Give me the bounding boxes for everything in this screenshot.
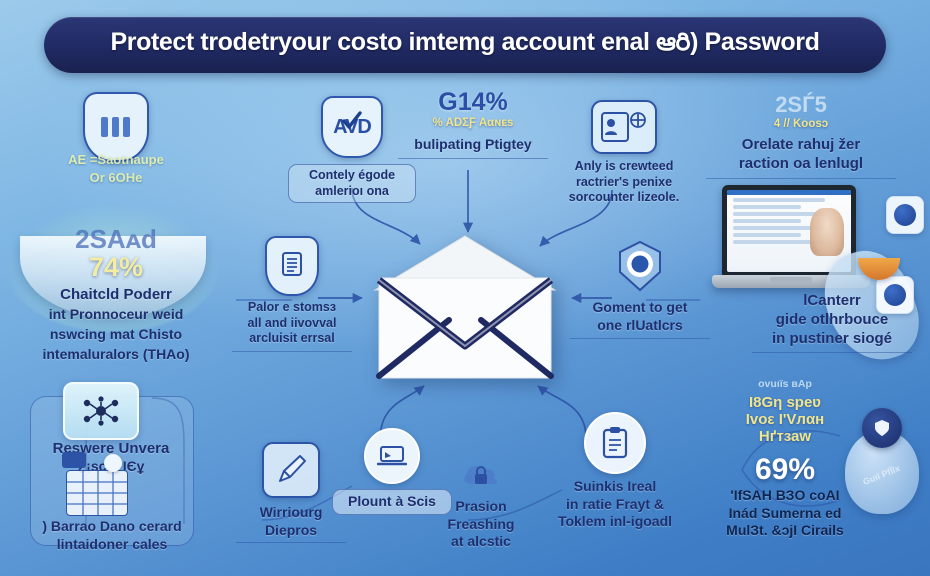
laptop-glyph bbox=[377, 444, 407, 468]
envelope-glyph bbox=[371, 234, 559, 382]
clipboard-glyph bbox=[601, 426, 629, 460]
node-clipboard[interactable]: Suinkis Ireal in ratie Frayt & Toklem in… bbox=[540, 412, 690, 531]
left-top-caption-2: int Pronnoceur weid bbox=[0, 306, 232, 324]
left-top-stat: 74% bbox=[0, 252, 232, 283]
pencil-glyph bbox=[274, 453, 308, 487]
calendar-grid-icon bbox=[66, 470, 128, 516]
right-bottom-sub-3: Hґтзаw bbox=[690, 428, 880, 445]
left-top-caption-1: Chaitcld Poderr bbox=[0, 286, 232, 305]
node-password[interactable]: Prasion Freashing at alcstic bbox=[426, 458, 536, 551]
shield-document-lock-icon bbox=[265, 236, 319, 296]
left-top-caption-4: intemaluralors (THAo) bbox=[0, 346, 232, 364]
node-identity-caption-3: sorcounter lizeole. bbox=[544, 190, 704, 206]
document-glyph bbox=[280, 251, 304, 281]
cloud-network-icon bbox=[63, 382, 139, 440]
calendar-tag-icon bbox=[62, 452, 86, 468]
node-phishing-caption-1: bulipating Ptigtey bbox=[398, 136, 548, 159]
shield-glyph bbox=[873, 419, 891, 437]
award-shield-icon bbox=[886, 196, 924, 234]
node-identity[interactable]: Anly is crewteed ractrier's penixe sorco… bbox=[544, 100, 704, 206]
node-phishing-stat-sub: % ADΣƑ Aαɴᴇѕ bbox=[398, 117, 548, 129]
node-warning-caption-1: Wirriourg bbox=[236, 504, 346, 522]
shield-badge-icon bbox=[862, 408, 902, 448]
laptop-circle-icon bbox=[364, 428, 420, 484]
clipboard-icon bbox=[584, 412, 646, 474]
screen-line bbox=[733, 212, 825, 216]
left-top-ghost-line-1: AE =Saotnaupe bbox=[0, 152, 232, 167]
screen-line bbox=[733, 205, 801, 209]
node-verified[interactable]: AVD Contely égode amlerioı ona bbox=[288, 96, 416, 203]
node-password-caption-3: at alcstic bbox=[426, 533, 536, 551]
node-document-caption-2: all and iivovval bbox=[232, 316, 352, 332]
node-clipboard-caption-2: in ratie Frayt & bbox=[540, 496, 690, 514]
node-identity-caption-1: Anly is crewteed bbox=[544, 159, 704, 175]
right-bottom-sub-1: I8Gη ѕреʋ bbox=[690, 394, 880, 411]
right-mid-caption-2: gide otlhrbouce bbox=[752, 311, 912, 330]
right-bottom-sub-2: Іvоε І'Vлαн bbox=[690, 411, 880, 428]
left-top-caption-3: nswcing mat Chisto bbox=[0, 326, 232, 344]
screen-line bbox=[733, 233, 801, 237]
location-pin-shield-icon bbox=[612, 238, 668, 296]
left-top-stat-ghost: 2SAᴀԁ bbox=[0, 224, 232, 255]
verified-shield-check-icon: AVD bbox=[321, 96, 383, 158]
page-title-banner: Protect trodetryour costo imtemg account… bbox=[44, 17, 886, 73]
pin-glyph bbox=[612, 238, 668, 296]
node-document-lock[interactable]: Palor e stomsз all and iivovval arcluisi… bbox=[232, 236, 352, 352]
bars-glyph bbox=[99, 114, 133, 140]
calendar-cursor-icon bbox=[104, 454, 122, 472]
screen-illustration bbox=[810, 208, 844, 256]
infographic-canvas: Protect trodetryour costo imtemg account… bbox=[0, 0, 930, 576]
pencil-note-icon bbox=[262, 442, 320, 498]
left-top-ghost-line-2: Or 6OHe bbox=[0, 170, 232, 185]
node-verified-caption-1: Contely égode bbox=[297, 168, 407, 184]
left-bottom-footer-2: lintaidoner cales bbox=[20, 536, 204, 554]
node-verified-caption-2: amlerioı ona bbox=[297, 184, 407, 200]
node-phishing-stat: G14% % ADΣƑ Aαɴᴇѕ bulipating Ptigtey bbox=[398, 88, 548, 159]
right-mid-caption-1: lCanterr bbox=[752, 292, 912, 311]
network-nodes-glyph bbox=[80, 396, 122, 426]
right-mid-caption-3: in pustiner siogé bbox=[752, 330, 912, 354]
right-mid-group: lCanterr gide otlhrbouce in pustiner sio… bbox=[752, 292, 912, 353]
left-bottom-footer-1: ) Barrao Dano cerard bbox=[20, 518, 204, 536]
right-top-caption-2: raction oa lenlugl bbox=[706, 155, 896, 179]
laptop-trackpad bbox=[770, 277, 812, 283]
right-bottom-ghost-top: ovuıїѕ вАр bbox=[690, 378, 880, 390]
envelope-icon[interactable] bbox=[371, 234, 559, 382]
node-clipboard-caption-1: Suinkis Ireal bbox=[540, 478, 690, 496]
right-top-group: 2ЅЃ5 4 // Kooѕɔ Orelate rahuj žer ractio… bbox=[706, 92, 896, 179]
node-location-caption-2: one rlUatlcrs bbox=[570, 317, 710, 340]
screen-line bbox=[733, 198, 825, 202]
screen-browser-bar bbox=[727, 190, 851, 195]
page-title: Protect trodetryour costo imtemg account… bbox=[111, 28, 820, 63]
right-top-caption-1: Orelate rahuj žer bbox=[706, 136, 896, 155]
check-icon bbox=[341, 110, 363, 132]
node-password-caption-2: Freashing bbox=[426, 516, 536, 534]
node-phishing-stat-value: G14% bbox=[398, 88, 548, 117]
cloud-lock-glyph bbox=[459, 458, 503, 494]
node-identity-caption-2: ractrier's penixe bbox=[544, 175, 704, 191]
award-dot bbox=[894, 204, 916, 226]
right-top-sub: 4 // Kooѕɔ bbox=[706, 118, 896, 130]
right-top-stat-ghost: 2ЅЃ5 bbox=[706, 92, 896, 118]
node-clipboard-caption-3: Toklem inl-igoadl bbox=[540, 513, 690, 531]
lock-cloud-icon bbox=[459, 458, 503, 494]
node-warning-caption-2: Diepros bbox=[236, 522, 346, 544]
node-document-caption-1: Palor e stomsз bbox=[232, 300, 352, 316]
screen-line bbox=[733, 219, 801, 223]
node-password-caption-1: Prasion bbox=[426, 498, 536, 516]
node-location-caption-1: Goment to get bbox=[570, 299, 710, 317]
laptop-screen bbox=[727, 190, 851, 272]
node-document-caption-3: arcluisit errsal bbox=[232, 331, 352, 347]
id-card-fingerprint-icon bbox=[591, 100, 657, 154]
node-location-pin[interactable]: Goment to get one rlUatlcrs bbox=[570, 238, 710, 339]
node-warning[interactable]: Wirriourg Diepros bbox=[236, 442, 346, 543]
id-card-glyph bbox=[601, 111, 647, 143]
right-bottom-caption-3: MulЗt. &ɔјI Cirails bbox=[690, 522, 880, 540]
right-bottom-caption-2: Inád Sumerna ed bbox=[690, 505, 880, 523]
